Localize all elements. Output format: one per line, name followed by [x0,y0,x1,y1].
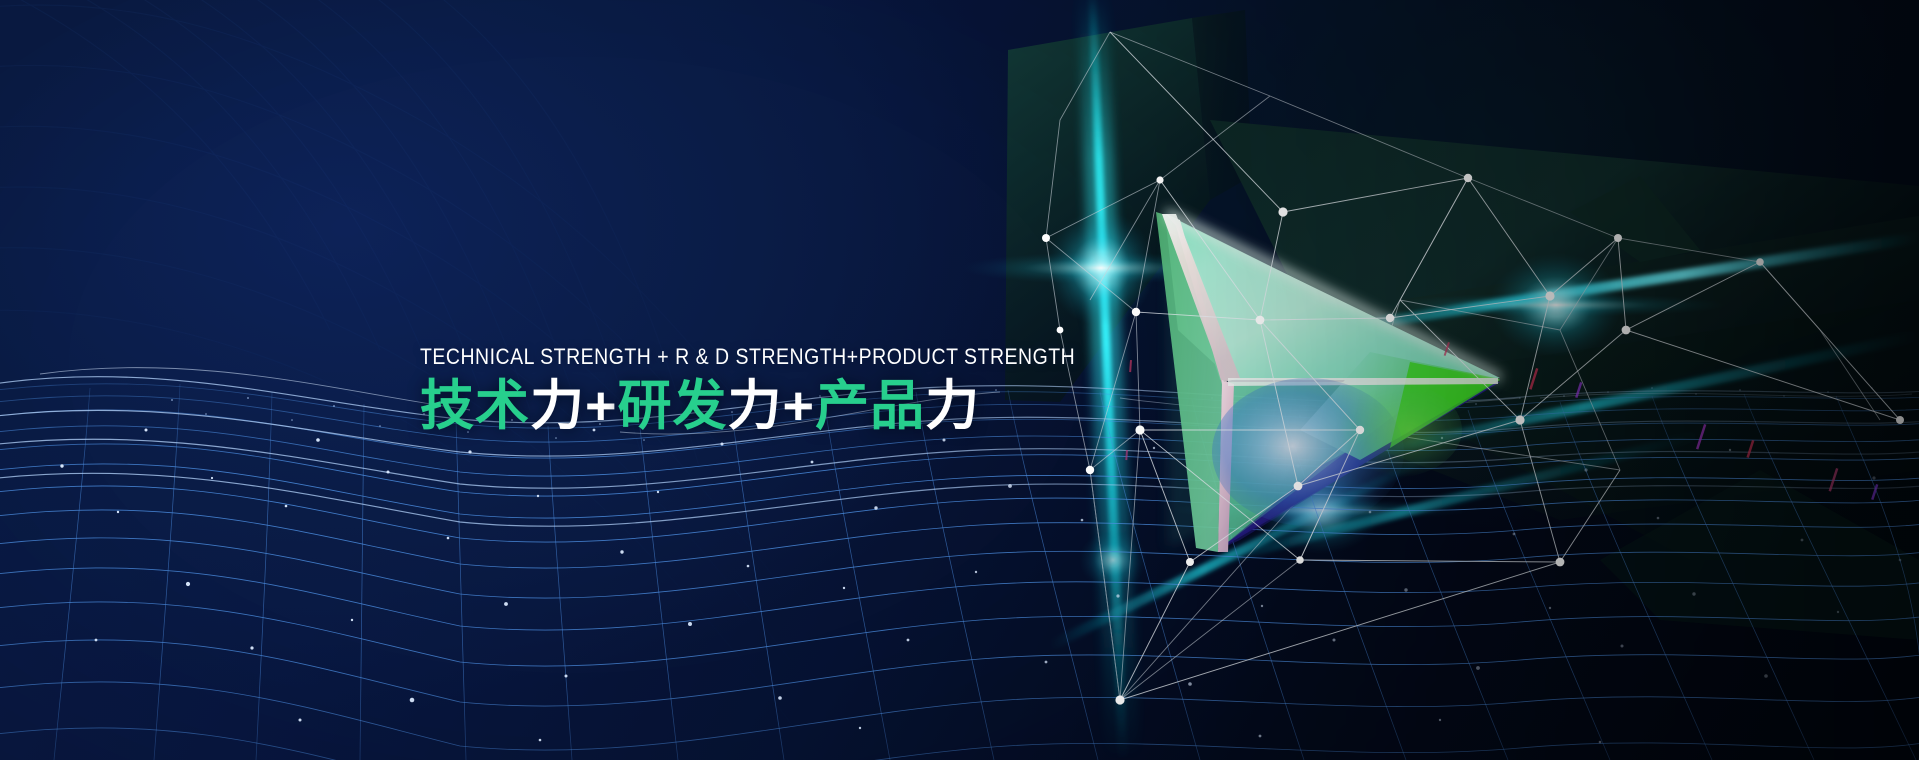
hero-banner: TECHNICAL STRENGTH + R & D STRENGTH+PROD… [0,0,1919,760]
headline-text: 技术力+研发力+产品力 [420,376,1060,436]
arrow-left-spine [1156,212,1222,552]
headline-seg-6: 产品 [815,376,925,436]
arrow-lower-face [1218,382,1498,548]
arrow-green-edge [1300,352,1500,460]
headline-seg-7: 力 [925,376,980,436]
arrow-top-face [1165,215,1500,378]
eyebrow-text: TECHNICAL STRENGTH + R & D STRENGTH+PROD… [420,344,974,370]
arrow-indigo-face [1218,382,1500,550]
network-nodes [1042,174,1904,705]
headline-seg-0: 技术 [420,376,530,436]
headline-seg-5: + [783,376,816,436]
headline-seg-4: 力 [728,376,783,436]
arrow-highlight-edge [1218,380,1234,552]
arrow-upper-face [1166,214,1498,380]
headline-seg-1: 力 [530,376,585,436]
headline-seg-2: + [585,376,618,436]
headline-seg-3: 研发 [618,376,728,436]
headline-block: TECHNICAL STRENGTH + R & D STRENGTH+PROD… [420,344,1060,436]
